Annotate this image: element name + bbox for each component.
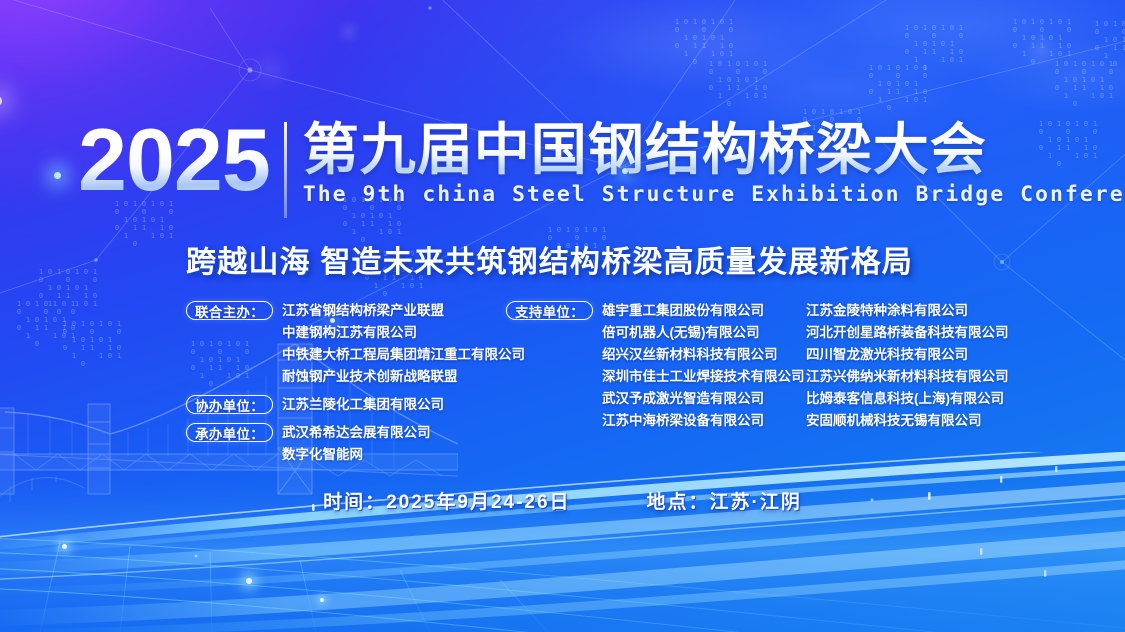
event-date: 时间：2025年9月24-26日 (323, 487, 570, 514)
vertical-divider (284, 122, 287, 218)
sponsor-name: 雄宇重工集团股份有限公司 (602, 300, 805, 322)
conference-banner: 10 01 0 110 1 0 1 0011 1 01 0 0 1 1 10 0… (0, 0, 1125, 632)
sponsor-group-undertaker: 承办单位： 武汉希希达会展有限公司 数字化智能网 (186, 422, 506, 466)
footer-info: 时间：2025年9月24-26日 地点：江苏·江阴 (0, 487, 1125, 514)
banner-content: 2025 第九届中国钢结构桥梁大会 The 9th china Steel St… (0, 0, 1125, 632)
sponsor-label-co-organizer: 协办单位： (186, 395, 273, 414)
sponsor-group-co-organizer: 协办单位： 江苏兰陵化工集团有限公司 (186, 394, 506, 416)
sponsor-names-supporters-mid: 雄宇重工集团股份有限公司 倍可机器人(无锡)有限公司 绍兴汉丝新材料科技有限公司… (602, 300, 805, 432)
sponsor-name: 武汉希希达会展有限公司 (282, 422, 431, 444)
sponsor-name: 比姆泰客信息科技(上海)有限公司 (806, 388, 1056, 410)
year-text: 2025 (78, 118, 270, 202)
title-stack: 第九届中国钢结构桥梁大会 The 9th china Steel Structu… (303, 118, 1125, 207)
sponsor-name: 江苏金陵特种涂料有限公司 (806, 300, 1056, 322)
sponsor-name: 河北开创星路桥装备科技有限公司 (806, 322, 1056, 344)
page-title: 第九届中国钢结构桥梁大会 (303, 120, 1125, 179)
sponsor-names-co-organizer: 江苏兰陵化工集团有限公司 (282, 394, 444, 416)
sponsor-name: 江苏兰陵化工集团有限公司 (282, 394, 444, 416)
sponsor-name: 江苏兴佛纳米新材料科技有限公司 (806, 366, 1056, 388)
sponsor-group-co-host: 联合主办： 江苏省钢结构桥梁产业联盟 中建钢构江苏有限公司 中铁建大桥工程局集团… (186, 300, 506, 388)
slogan-text: 跨越山海 智造未来共筑钢结构桥梁高质量发展新格局 (186, 237, 913, 281)
sponsor-column-right: 江苏金陵特种涂料有限公司 河北开创星路桥装备科技有限公司 四川智龙激光科技有限公… (806, 300, 1056, 432)
sponsor-label-undertaker: 承办单位： (186, 423, 273, 442)
sponsor-column-left: 联合主办： 江苏省钢结构桥梁产业联盟 中建钢构江苏有限公司 中铁建大桥工程局集团… (186, 300, 506, 472)
sponsor-name: 中建钢构江苏有限公司 (282, 322, 525, 344)
sponsor-label-co-host: 联合主办： (186, 301, 273, 320)
sponsor-name: 江苏省钢结构桥梁产业联盟 (282, 300, 525, 322)
headline: 2025 第九届中国钢结构桥梁大会 The 9th china Steel St… (78, 118, 1125, 218)
page-title-english: The 9th china Steel Structure Exhibition… (303, 182, 1125, 207)
sponsor-group-supporters: 支持单位： 雄宇重工集团股份有限公司 倍可机器人(无锡)有限公司 绍兴汉丝新材料… (506, 300, 806, 432)
sponsor-name: 四川智龙激光科技有限公司 (806, 344, 1056, 366)
sponsor-name: 绍兴汉丝新材料科技有限公司 (602, 344, 805, 366)
sponsor-name: 武汉予成激光智造有限公司 (602, 388, 805, 410)
sponsor-name: 倍可机器人(无锡)有限公司 (602, 322, 805, 344)
sponsor-name: 安固顺机械科技无锡有限公司 (806, 410, 1056, 432)
sponsor-label-supporters: 支持单位： (506, 301, 593, 320)
sponsor-name: 中铁建大桥工程局集团靖江重工有限公司 (282, 344, 525, 366)
sponsor-name: 数字化智能网 (282, 444, 431, 466)
sponsor-names-undertaker: 武汉希希达会展有限公司 数字化智能网 (282, 422, 431, 466)
sponsor-name: 耐蚀钢产业技术创新战略联盟 (282, 366, 525, 388)
sponsor-name: 江苏中海桥梁设备有限公司 (602, 410, 805, 432)
event-location: 地点：江苏·江阴 (647, 487, 802, 514)
sponsor-column-middle: 支持单位： 雄宇重工集团股份有限公司 倍可机器人(无锡)有限公司 绍兴汉丝新材料… (506, 300, 806, 438)
sponsor-name: 深圳市佳士工业焊接技术有限公司 (602, 366, 805, 388)
sponsor-names-co-host: 江苏省钢结构桥梁产业联盟 中建钢构江苏有限公司 中铁建大桥工程局集团靖江重工有限… (282, 300, 525, 388)
sponsors-section: 联合主办： 江苏省钢结构桥梁产业联盟 中建钢构江苏有限公司 中铁建大桥工程局集团… (186, 300, 1066, 472)
